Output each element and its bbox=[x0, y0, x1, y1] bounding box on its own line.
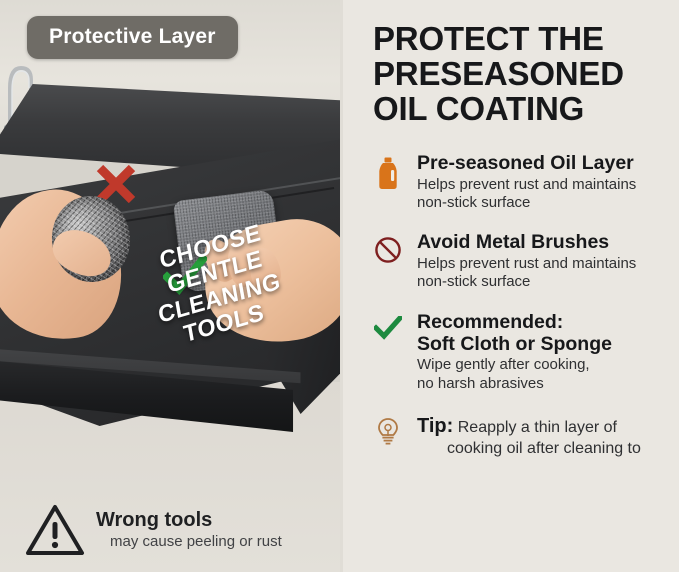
feature-item-oil-layer: Pre-seasoned Oil Layer Helps prevent rus… bbox=[373, 153, 661, 212]
green-check-icon bbox=[163, 255, 207, 295]
feature-title: Avoid Metal Brushes bbox=[417, 232, 636, 254]
left-photo-panel: CHOOSE GENTLE CLEANING TOOLS Protective … bbox=[0, 0, 340, 572]
tip-text: Tip: Reapply a thin layer of cooking oil… bbox=[417, 413, 641, 460]
tip-line-2: cooking oil after cleaning to bbox=[417, 439, 641, 460]
tip-line-1: Reapply a thin layer of bbox=[458, 419, 617, 436]
feature-title: Pre-seasoned Oil Layer bbox=[417, 153, 636, 175]
tip-label: Tip: bbox=[417, 415, 453, 437]
right-text-panel: PROTECT THE PRESEASONED OIL COATING Pre-… bbox=[343, 0, 679, 572]
oil-bottle-icon bbox=[373, 153, 403, 190]
infographic-page: CHOOSE GENTLE CLEANING TOOLS Protective … bbox=[0, 0, 679, 572]
protective-layer-badge: Protective Layer bbox=[27, 16, 238, 59]
feature-subtitle: Helps prevent rust and maintains non-sti… bbox=[417, 255, 636, 292]
feature-subtitle: Helps prevent rust and maintains non-sti… bbox=[417, 176, 636, 213]
warning-triangle-icon bbox=[24, 502, 86, 558]
tip-row: Tip: Reapply a thin layer of cooking oil… bbox=[373, 413, 661, 460]
feature-text: Recommended: Soft Cloth or Sponge Wipe g… bbox=[417, 312, 612, 393]
wrong-tools-text: Wrong tools may cause peeling or rust bbox=[96, 502, 282, 550]
feature-subtitle: Wipe gently after cooking, no harsh abra… bbox=[417, 356, 612, 393]
feature-item-avoid-metal-brushes: Avoid Metal Brushes Helps prevent rust a… bbox=[373, 232, 661, 291]
page-title: PROTECT THE PRESEASONED OIL COATING bbox=[373, 22, 661, 127]
tip-first-line: Tip: Reapply a thin layer of bbox=[417, 413, 641, 439]
lightbulb-icon bbox=[373, 413, 403, 447]
feature-item-recommended: Recommended: Soft Cloth or Sponge Wipe g… bbox=[373, 312, 661, 393]
tip-second-line: cooking oil after cleaning to bbox=[417, 439, 641, 460]
feature-text: Pre-seasoned Oil Layer Helps prevent rus… bbox=[417, 153, 636, 212]
wrong-tools-subtitle: may cause peeling or rust bbox=[110, 533, 282, 550]
green-check-icon bbox=[373, 312, 403, 340]
feature-title: Recommended: Soft Cloth or Sponge bbox=[417, 312, 612, 356]
wrong-tools-callout: Wrong tools may cause peeling or rust bbox=[24, 502, 282, 558]
feature-text: Avoid Metal Brushes Helps prevent rust a… bbox=[417, 232, 636, 291]
wrong-tools-title: Wrong tools bbox=[96, 510, 282, 531]
prohibited-icon bbox=[373, 232, 403, 264]
